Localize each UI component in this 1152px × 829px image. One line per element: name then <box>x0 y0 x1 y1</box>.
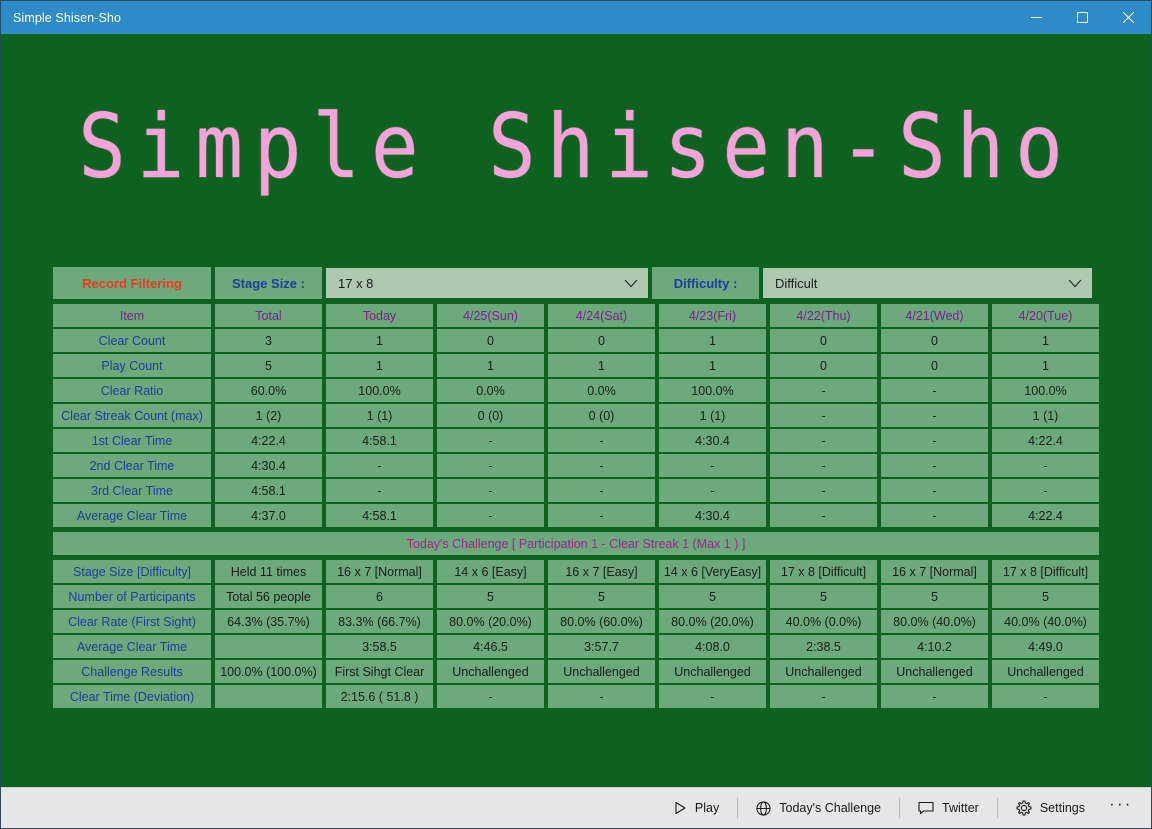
challenge-cell: Unchallenged <box>546 659 657 684</box>
records-cell: - <box>324 478 435 503</box>
records-cell: 0 (0) <box>435 403 546 428</box>
chevron-down-icon <box>1068 279 1082 288</box>
play-icon <box>673 801 687 815</box>
records-cell: 1 (1) <box>657 403 768 428</box>
records-cell: - <box>435 428 546 453</box>
records-cell: 1 <box>990 353 1101 378</box>
todays-challenge-label: Today's Challenge <box>779 801 881 815</box>
difficulty-select[interactable]: Difficult <box>761 266 1094 300</box>
records-row-label: 1st Clear Time <box>51 428 213 453</box>
records-cell: - <box>879 453 990 478</box>
records-column-header: 4/25(Sun) <box>435 303 546 328</box>
challenge-cell: 5 <box>768 584 879 609</box>
challenge-cell: 2:15.6 ( 51.8 ) <box>324 684 435 709</box>
records-cell: 1 <box>657 328 768 353</box>
table-row: 2nd Clear Time4:30.4------- <box>51 453 1101 478</box>
table-row: Play Count51111001 <box>51 353 1101 378</box>
records-row-label: 3rd Clear Time <box>51 478 213 503</box>
todays-challenge-banner: Today's Challenge [ Participation 1 - Cl… <box>51 531 1101 556</box>
challenge-cell: 80.0% (40.0%) <box>879 609 990 634</box>
records-cell: - <box>879 378 990 403</box>
challenge-cell: 3:57.7 <box>546 634 657 659</box>
window-title: Simple Shisen-Sho <box>1 11 121 25</box>
records-cell: 4:22.4 <box>990 503 1101 528</box>
records-cell: 4:30.4 <box>657 428 768 453</box>
records-cell: - <box>435 503 546 528</box>
records-column-header: 4/23(Fri) <box>657 303 768 328</box>
challenge-cell: Total 56 people <box>213 584 324 609</box>
records-column-header: Today <box>324 303 435 328</box>
globe-icon <box>756 801 771 816</box>
challenge-row-label: Average Clear Time <box>51 634 213 659</box>
records-cell: 100.0% <box>990 378 1101 403</box>
settings-label: Settings <box>1040 801 1085 815</box>
challenge-cell: 5 <box>990 584 1101 609</box>
records-cell: 0 <box>879 328 990 353</box>
table-row: Clear Count31001001 <box>51 328 1101 353</box>
records-cell: 5 <box>213 353 324 378</box>
challenge-row-label: Clear Rate (First Sight) <box>51 609 213 634</box>
challenge-row-label: Stage Size [Difficulty] <box>51 559 213 584</box>
challenge-cell: - <box>879 684 990 709</box>
challenge-cell: 17 x 8 [Difficult] <box>768 559 879 584</box>
challenge-cell: Unchallenged <box>657 659 768 684</box>
table-row: Stage Size [Difficulty]Held 11 times16 x… <box>51 559 1101 584</box>
challenge-cell: 83.3% (66.7%) <box>324 609 435 634</box>
records-table: ItemTotalToday4/25(Sun)4/24(Sat)4/23(Fri… <box>51 303 1101 528</box>
challenge-cell: 80.0% (60.0%) <box>546 609 657 634</box>
records-cell: - <box>657 478 768 503</box>
challenge-cell: 14 x 6 [VeryEasy] <box>657 559 768 584</box>
records-cell: 0 <box>546 328 657 353</box>
challenge-cell: 6 <box>324 584 435 609</box>
records-cell: 0 <box>768 328 879 353</box>
records-cell: - <box>435 453 546 478</box>
records-cell: 3 <box>213 328 324 353</box>
records-column-header: 4/21(Wed) <box>879 303 990 328</box>
records-cell: - <box>546 503 657 528</box>
challenge-cell: 16 x 7 [Normal] <box>879 559 990 584</box>
challenge-cell: 3:58.5 <box>324 634 435 659</box>
todays-challenge-button[interactable]: Today's Challenge <box>742 790 895 827</box>
play-label: Play <box>695 801 719 815</box>
records-cell: - <box>879 503 990 528</box>
challenge-cell: 5 <box>546 584 657 609</box>
challenge-row-label: Number of Participants <box>51 584 213 609</box>
main-content: Simple Shisen-Sho Record Filtering Stage… <box>1 34 1151 787</box>
records-cell: 4:58.1 <box>324 428 435 453</box>
records-cell: 4:37.0 <box>213 503 324 528</box>
table-row: Clear Time (Deviation)2:15.6 ( 51.8 )---… <box>51 684 1101 709</box>
challenge-cell: - <box>990 684 1101 709</box>
challenge-cell: 4:49.0 <box>990 634 1101 659</box>
records-cell: - <box>657 453 768 478</box>
records-row-label: 2nd Clear Time <box>51 453 213 478</box>
records-cell: - <box>768 453 879 478</box>
app-logo: Simple Shisen-Sho <box>1 101 1151 194</box>
stage-size-label: Stage Size : <box>213 266 324 300</box>
records-column-header: 4/24(Sat) <box>546 303 657 328</box>
records-cell: 1 <box>324 328 435 353</box>
gear-icon <box>1016 800 1032 816</box>
close-button[interactable] <box>1105 1 1151 34</box>
challenge-cell: First Sihgt Clear <box>324 659 435 684</box>
challenge-cell: 4:46.5 <box>435 634 546 659</box>
records-column-header: 4/20(Tue) <box>990 303 1101 328</box>
records-cell: 0 <box>435 328 546 353</box>
difficulty-value: Difficult <box>775 276 817 291</box>
records-row-label: Clear Count <box>51 328 213 353</box>
challenge-cell: Held 11 times <box>213 559 324 584</box>
command-separator <box>997 798 998 818</box>
records-header-row: ItemTotalToday4/25(Sun)4/24(Sat)4/23(Fri… <box>51 303 1101 328</box>
record-filtering-row: Record Filtering Stage Size : 17 x 8 Dif… <box>51 266 1101 300</box>
table-row: Average Clear Time3:58.54:46.53:57.74:08… <box>51 634 1101 659</box>
challenge-cell <box>213 684 324 709</box>
table-row: 3rd Clear Time4:58.1------- <box>51 478 1101 503</box>
records-cell: - <box>879 403 990 428</box>
records-cell: - <box>324 453 435 478</box>
challenge-cell: 16 x 7 [Easy] <box>546 559 657 584</box>
records-cell: - <box>546 478 657 503</box>
challenge-cell: - <box>657 684 768 709</box>
table-row: Clear Streak Count (max)1 (2)1 (1)0 (0)0… <box>51 403 1101 428</box>
records-cell: 1 <box>990 328 1101 353</box>
challenge-cell: Unchallenged <box>435 659 546 684</box>
records-cell: 100.0% <box>324 378 435 403</box>
difficulty-label: Difficulty : <box>650 266 761 300</box>
more-options-button[interactable]: ··· <box>1099 790 1143 827</box>
table-row: Number of ParticipantsTotal 56 people655… <box>51 584 1101 609</box>
records-cell: - <box>768 428 879 453</box>
challenge-cell: - <box>546 684 657 709</box>
twitter-button[interactable]: Twitter <box>904 790 993 827</box>
records-cell: 1 <box>435 353 546 378</box>
challenge-cell: Unchallenged <box>768 659 879 684</box>
records-cell: - <box>768 378 879 403</box>
challenge-cell: - <box>768 684 879 709</box>
records-cell: 1 (2) <box>213 403 324 428</box>
table-row: 1st Clear Time4:22.44:58.1--4:30.4--4:22… <box>51 428 1101 453</box>
challenge-row-label: Challenge Results <box>51 659 213 684</box>
records-cell: 4:22.4 <box>990 428 1101 453</box>
statistics-panel: Record Filtering Stage Size : 17 x 8 Dif… <box>51 266 1101 709</box>
table-row: Challenge Results100.0% (100.0%)First Si… <box>51 659 1101 684</box>
window-controls <box>1013 1 1151 34</box>
records-row-label: Clear Ratio <box>51 378 213 403</box>
record-filtering-title: Record Filtering <box>51 266 213 300</box>
challenge-cell: 5 <box>657 584 768 609</box>
records-cell: 0 (0) <box>546 403 657 428</box>
records-column-header: Item <box>51 303 213 328</box>
records-cell: 4:30.4 <box>213 453 324 478</box>
challenge-cell: - <box>435 684 546 709</box>
challenge-cell: 80.0% (20.0%) <box>657 609 768 634</box>
records-cell: - <box>546 428 657 453</box>
records-cell: - <box>546 453 657 478</box>
maximize-button[interactable] <box>1059 1 1105 34</box>
window-titlebar: Simple Shisen-Sho <box>1 1 1151 34</box>
twitter-label: Twitter <box>942 801 979 815</box>
records-row-label: Clear Streak Count (max) <box>51 403 213 428</box>
records-cell: 0.0% <box>546 378 657 403</box>
stage-size-select[interactable]: 17 x 8 <box>324 266 650 300</box>
stage-size-value: 17 x 8 <box>338 276 373 291</box>
command-separator <box>737 798 738 818</box>
records-cell: - <box>768 503 879 528</box>
challenge-row-label: Clear Time (Deviation) <box>51 684 213 709</box>
settings-button[interactable]: Settings <box>1002 790 1099 827</box>
table-row: Average Clear Time4:37.04:58.1--4:30.4--… <box>51 503 1101 528</box>
challenge-cell: Unchallenged <box>990 659 1101 684</box>
challenge-cell: 100.0% (100.0%) <box>213 659 324 684</box>
records-cell: - <box>990 453 1101 478</box>
challenge-cell: 4:08.0 <box>657 634 768 659</box>
records-column-header: Total <box>213 303 324 328</box>
challenge-cell: 2:38.5 <box>768 634 879 659</box>
challenge-cell: 4:10.2 <box>879 634 990 659</box>
challenge-cell: 80.0% (20.0%) <box>435 609 546 634</box>
records-cell: - <box>879 428 990 453</box>
records-cell: 4:30.4 <box>657 503 768 528</box>
records-cell: - <box>879 478 990 503</box>
records-column-header: 4/22(Thu) <box>768 303 879 328</box>
challenge-cell: 14 x 6 [Easy] <box>435 559 546 584</box>
challenge-cell: 17 x 8 [Difficult] <box>990 559 1101 584</box>
challenge-cell: Unchallenged <box>879 659 990 684</box>
todays-challenge-table: Stage Size [Difficulty]Held 11 times16 x… <box>51 559 1101 709</box>
play-button[interactable]: Play <box>659 790 733 827</box>
records-cell: 1 <box>657 353 768 378</box>
challenge-cell: 40.0% (40.0%) <box>990 609 1101 634</box>
records-cell: - <box>990 478 1101 503</box>
table-row: Clear Rate (First Sight)64.3% (35.7%)83.… <box>51 609 1101 634</box>
records-cell: 4:58.1 <box>324 503 435 528</box>
challenge-cell: 16 x 7 [Normal] <box>324 559 435 584</box>
records-cell: - <box>768 478 879 503</box>
records-cell: 1 <box>546 353 657 378</box>
challenge-cell: 5 <box>879 584 990 609</box>
records-cell: 0.0% <box>435 378 546 403</box>
records-cell: 0 <box>768 353 879 378</box>
challenge-cell: 64.3% (35.7%) <box>213 609 324 634</box>
command-bar: Play Today's Challenge Twitter <box>1 787 1151 828</box>
challenge-cell: 5 <box>435 584 546 609</box>
records-cell: 0 <box>879 353 990 378</box>
command-separator <box>899 798 900 818</box>
records-cell: 60.0% <box>213 378 324 403</box>
challenge-cell: 40.0% (0.0%) <box>768 609 879 634</box>
table-row: Clear Ratio60.0%100.0%0.0%0.0%100.0%--10… <box>51 378 1101 403</box>
minimize-button[interactable] <box>1013 1 1059 34</box>
records-cell: - <box>768 403 879 428</box>
records-row-label: Play Count <box>51 353 213 378</box>
records-cell: 4:58.1 <box>213 478 324 503</box>
chat-icon <box>918 801 934 815</box>
records-cell: 1 (1) <box>990 403 1101 428</box>
records-cell: 1 <box>324 353 435 378</box>
records-cell: 4:22.4 <box>213 428 324 453</box>
chevron-down-icon <box>624 279 638 288</box>
challenge-cell <box>213 634 324 659</box>
records-cell: 100.0% <box>657 378 768 403</box>
records-row-label: Average Clear Time <box>51 503 213 528</box>
records-cell: 1 (1) <box>324 403 435 428</box>
records-cell: - <box>435 478 546 503</box>
